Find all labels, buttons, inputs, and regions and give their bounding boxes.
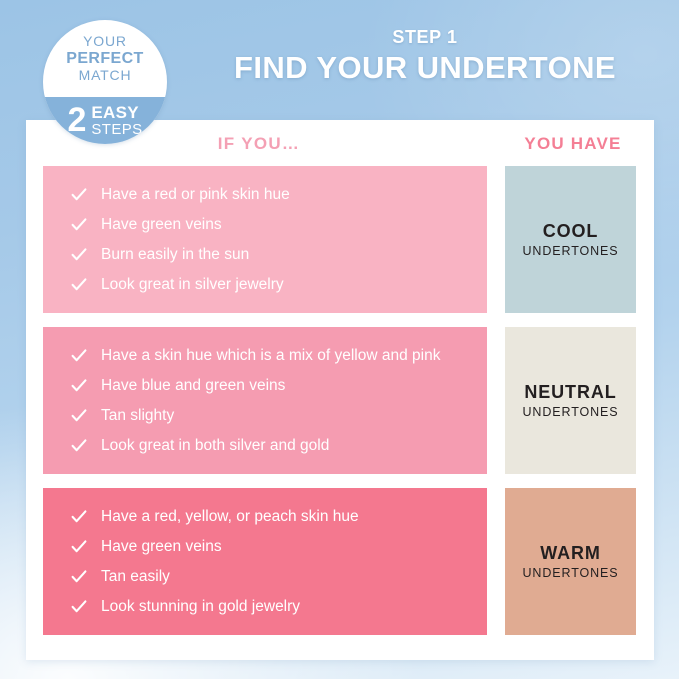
trait-label: Have blue and green veins [101,375,299,397]
badge-line-steps: STEPS [91,121,142,138]
check-icon [71,187,87,203]
check-icon [71,539,87,555]
trait-item: Burn easily in the sun [71,240,487,270]
badge-line-match: MATCH [79,67,132,84]
trait-item: Have green veins [71,210,487,240]
trait-label: Have a red or pink skin hue [101,184,304,206]
trait-item: Have blue and green veins [71,371,487,401]
undertone-swatch: WARMUNDERTONES [505,488,636,635]
undertone-sublabel: UNDERTONES [522,404,618,421]
step-label: STEP 1 [190,26,660,48]
trait-item: Look great in silver jewelry [71,270,487,300]
trait-label: Have green veins [101,536,236,558]
traits-panel: Have a red, yellow, or peach skin hueHav… [43,488,487,635]
trait-item: Have green veins [71,532,487,562]
traits-panel: Have a red or pink skin hueHave green ve… [43,166,487,313]
undertone-name: COOL [543,220,599,242]
trait-item: Tan slighty [71,401,487,431]
undertone-name: WARM [540,542,601,564]
trait-item: Have a red or pink skin hue [71,180,487,210]
badge-line-easy: EASY [91,104,142,121]
page-title: FIND YOUR UNDERTONE [190,49,660,87]
check-icon [71,509,87,525]
trait-label: Have green veins [101,214,236,236]
column-header-you-have: YOU HAVE [492,134,654,154]
infographic-poster: YOUR PERFECT MATCH 2 EASY STEPS STEP 1 F… [0,0,679,679]
check-icon [71,217,87,233]
undertone-row: Have a red, yellow, or peach skin hueHav… [26,488,654,635]
badge-line-perfect: PERFECT [66,50,143,67]
trait-item: Have a skin hue which is a mix of yellow… [71,341,487,371]
undertone-row: Have a skin hue which is a mix of yellow… [26,327,654,474]
badge-bottom-section: 2 EASY STEPS [43,97,167,144]
undertone-sublabel: UNDERTONES [522,565,618,582]
trait-label: Tan slighty [101,405,188,427]
badge-step-count: 2 [67,103,86,137]
check-icon [71,599,87,615]
undertone-sublabel: UNDERTONES [522,243,618,260]
trait-item: Look stunning in gold jewelry [71,592,487,622]
check-icon [71,569,87,585]
trait-item: Look great in both silver and gold [71,431,487,461]
poster-header: STEP 1 FIND YOUR UNDERTONE [190,26,660,87]
check-icon [71,438,87,454]
check-icon [71,247,87,263]
badge-line-your: YOUR [83,33,127,50]
check-icon [71,277,87,293]
check-icon [71,378,87,394]
undertone-rows: Have a red or pink skin hueHave green ve… [26,166,654,635]
trait-label: Have a red, yellow, or peach skin hue [101,506,373,528]
badge-top-section: YOUR PERFECT MATCH [43,20,167,97]
undertone-swatch: NEUTRALUNDERTONES [505,327,636,474]
traits-panel: Have a skin hue which is a mix of yellow… [43,327,487,474]
trait-label: Tan easily [101,566,184,588]
trait-label: Look great in both silver and gold [101,435,343,457]
check-icon [71,348,87,364]
content-card: IF YOU… YOU HAVE Have a red or pink skin… [26,120,654,660]
trait-label: Burn easily in the sun [101,244,263,266]
trait-label: Look great in silver jewelry [101,274,298,296]
undertone-name: NEUTRAL [524,381,616,403]
your-perfect-match-badge: YOUR PERFECT MATCH 2 EASY STEPS [43,20,167,144]
trait-item: Have a red, yellow, or peach skin hue [71,502,487,532]
check-icon [71,408,87,424]
undertone-row: Have a red or pink skin hueHave green ve… [26,166,654,313]
undertone-swatch: COOLUNDERTONES [505,166,636,313]
trait-label: Look stunning in gold jewelry [101,596,314,618]
trait-label: Have a skin hue which is a mix of yellow… [101,345,454,367]
badge-steps-text: EASY STEPS [91,104,142,138]
trait-item: Tan easily [71,562,487,592]
